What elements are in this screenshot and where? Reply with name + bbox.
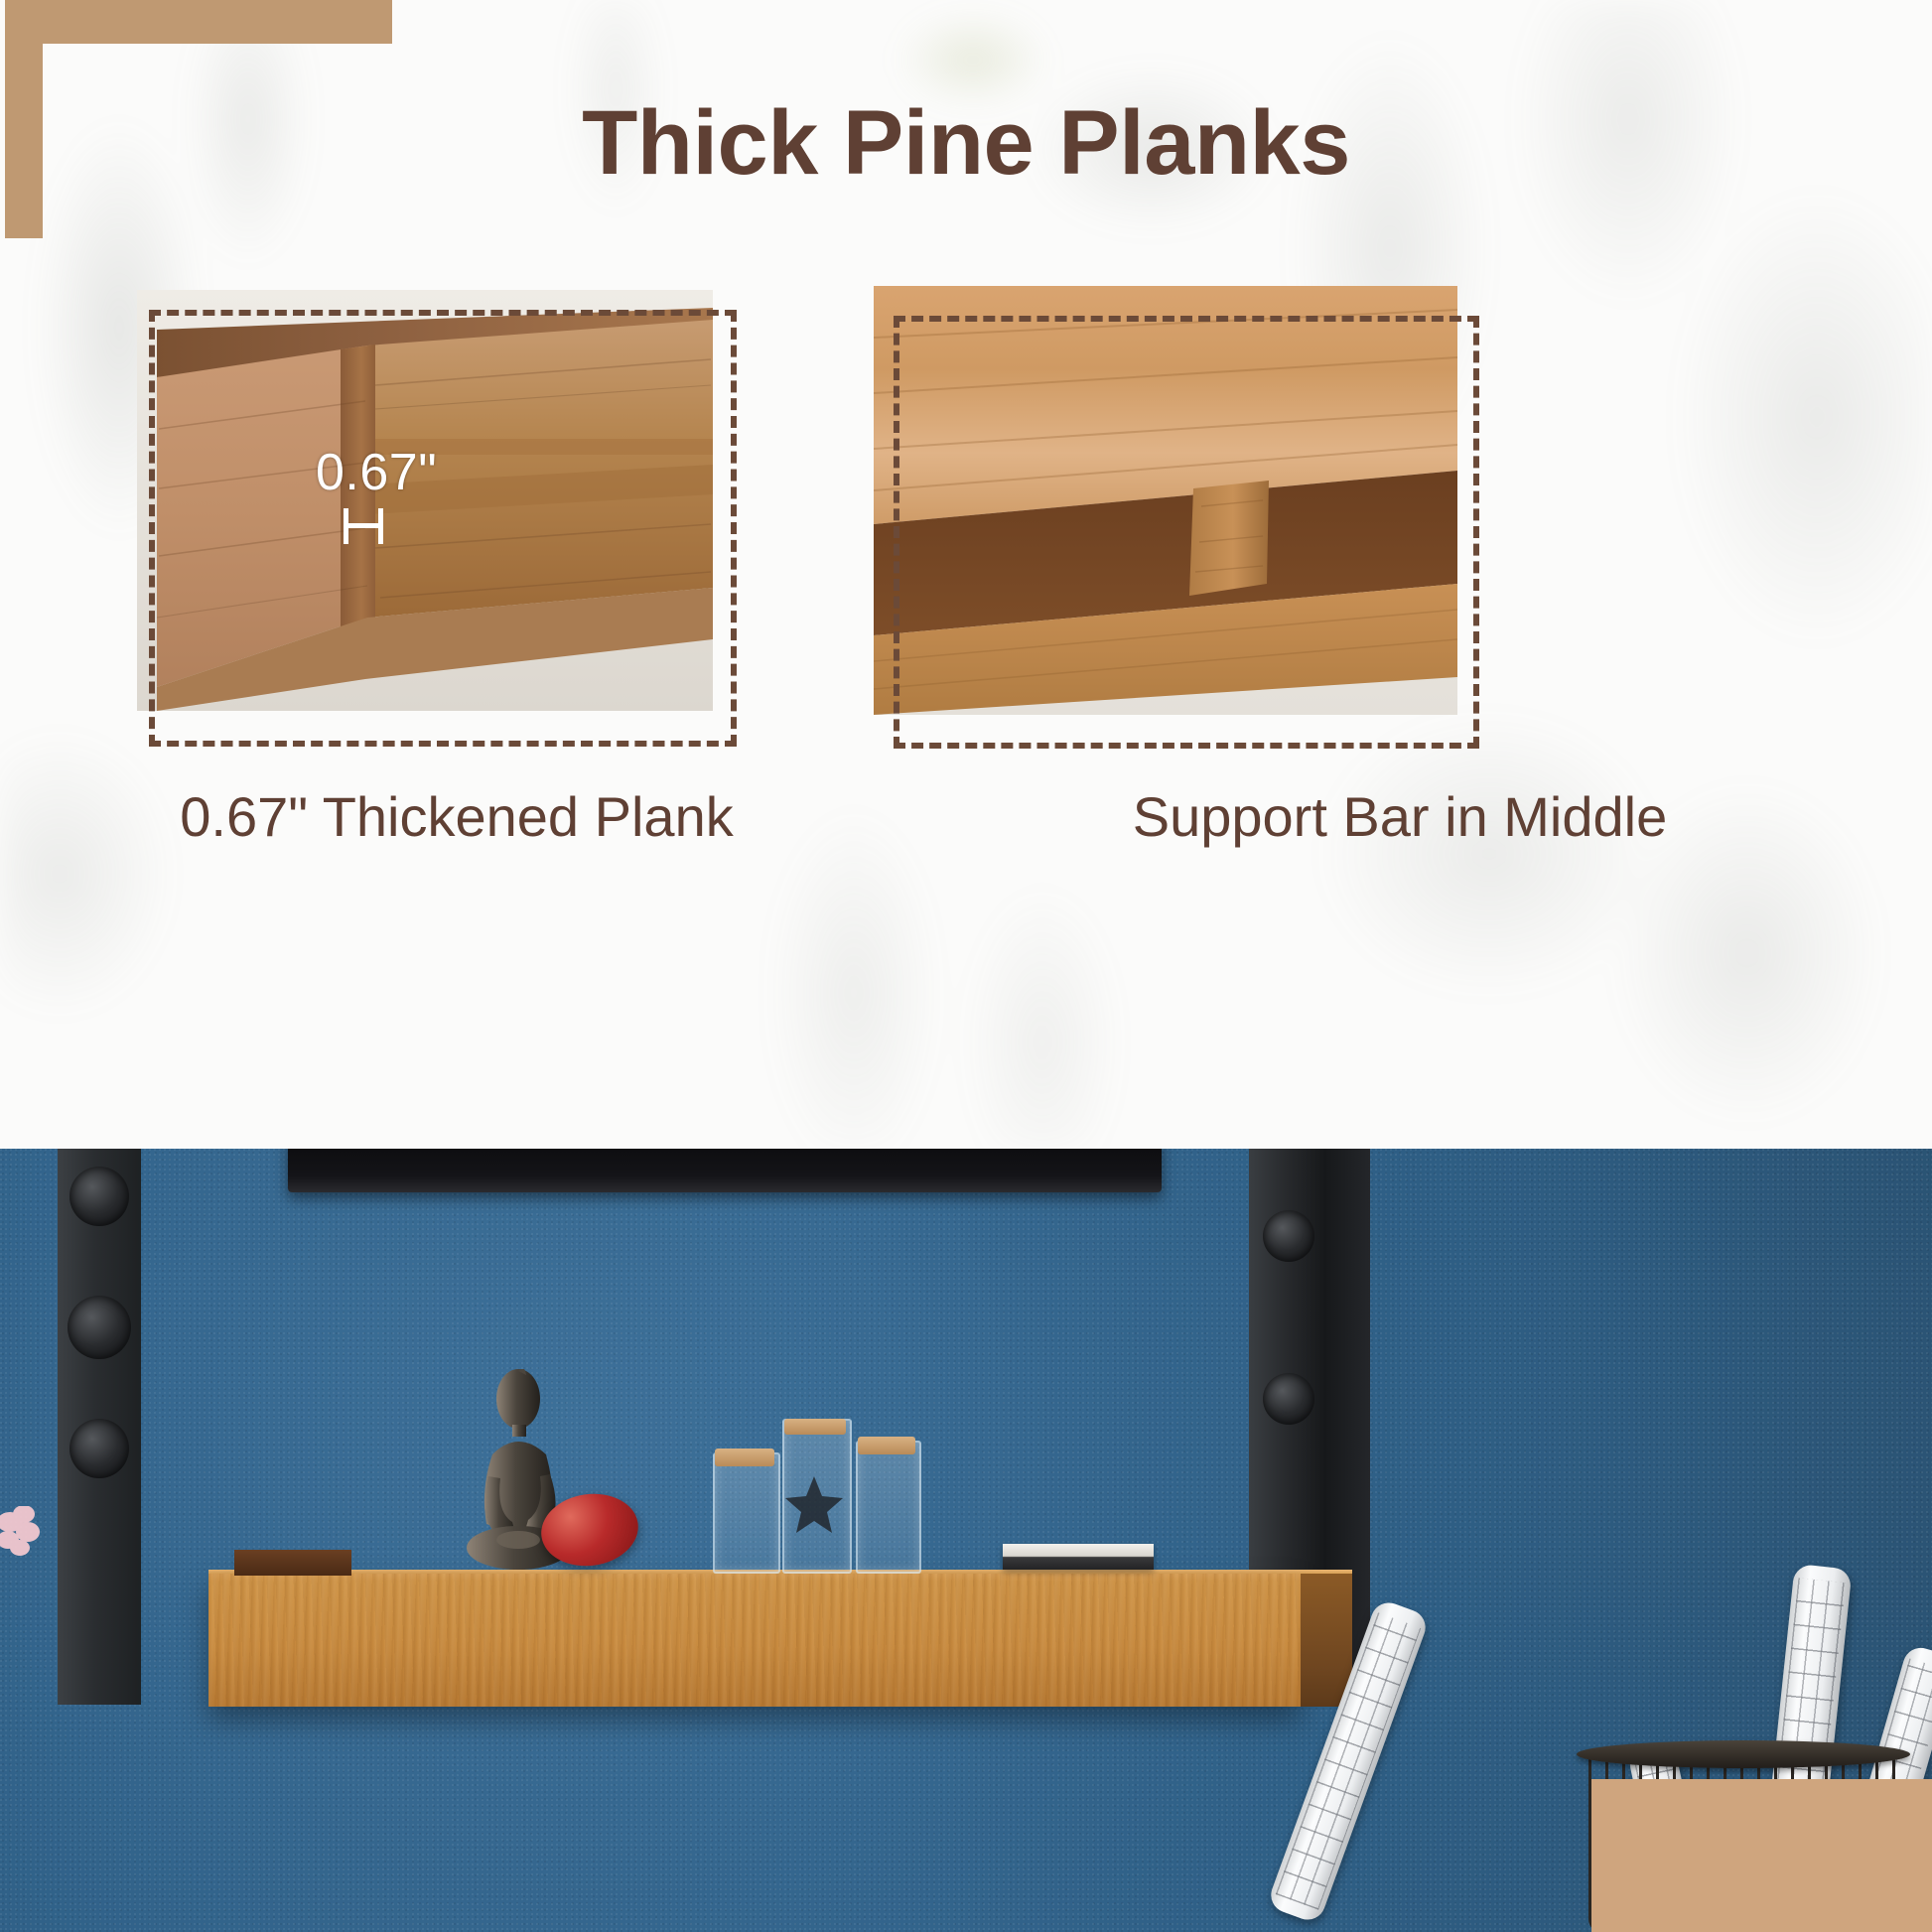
feature-caption-left: 0.67" Thickened Plank — [60, 784, 854, 849]
wire-basket-rim — [1577, 1740, 1910, 1768]
tv-panel — [288, 1149, 1162, 1192]
jar-star-decor-icon — [713, 1415, 919, 1574]
feature-section: Thick Pine Planks — [0, 0, 1932, 1149]
floating-shelf — [208, 1574, 1301, 1707]
book — [1003, 1544, 1154, 1570]
page-title: Thick Pine Planks — [0, 91, 1932, 196]
glass-jars — [713, 1415, 919, 1574]
corner-bracket-horizontal-icon — [5, 0, 392, 44]
infographic-page: Thick Pine Planks — [0, 0, 1932, 1932]
dimension-marker-icon — [343, 508, 384, 544]
speaker-driver-icon — [1263, 1210, 1314, 1262]
dimension-label: 0.67" — [316, 443, 437, 502]
speaker-driver-icon — [69, 1419, 129, 1478]
speaker-driver-icon — [68, 1296, 131, 1359]
shelf-small-block — [234, 1550, 351, 1576]
shelf-wood-grain — [208, 1574, 1301, 1707]
speaker-driver-icon — [1263, 1373, 1314, 1425]
corner-block-bottom-right — [1591, 1779, 1932, 1932]
feature-caption-right: Support Bar in Middle — [993, 784, 1807, 849]
cherry-blossom-icon — [0, 1506, 52, 1576]
speaker-driver-icon — [69, 1167, 129, 1226]
feature-photo-right — [874, 286, 1457, 715]
support-bar-photo — [874, 286, 1457, 715]
support-bar-illustration — [874, 286, 1457, 715]
